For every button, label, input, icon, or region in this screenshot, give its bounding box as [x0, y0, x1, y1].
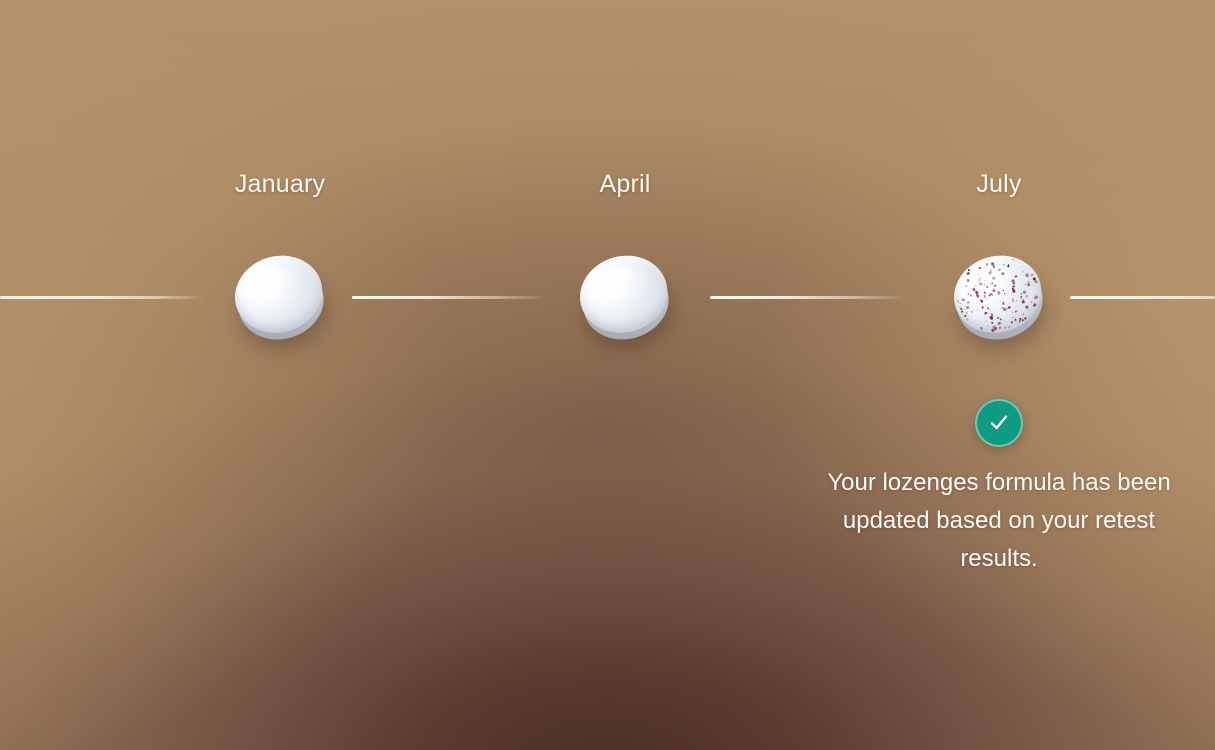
background-vignette: [0, 0, 1215, 750]
timeline-node-january[interactable]: January: [180, 172, 380, 351]
timeline-node-july[interactable]: July: [899, 172, 1099, 351]
tablet-face-january: [226, 246, 332, 343]
pill-july[interactable]: [947, 247, 1051, 351]
timeline-screen: January April July: [0, 0, 1215, 750]
month-label-july: July: [976, 172, 1021, 197]
tablet-graphic-january: [224, 244, 337, 354]
status-message: Your lozenges formula has been updated b…: [824, 464, 1174, 578]
timeline-node-april[interactable]: April: [525, 172, 725, 351]
pill-april[interactable]: [573, 247, 677, 351]
check-circle-icon: [975, 399, 1023, 447]
tablet-speckles-july: [945, 246, 1051, 343]
tablet-graphic-july: [943, 244, 1056, 354]
tablet-graphic-april: [569, 244, 682, 354]
tablet-face-april: [571, 246, 677, 343]
month-label-january: January: [235, 172, 325, 197]
month-label-april: April: [599, 172, 650, 197]
pill-january[interactable]: [228, 247, 332, 351]
